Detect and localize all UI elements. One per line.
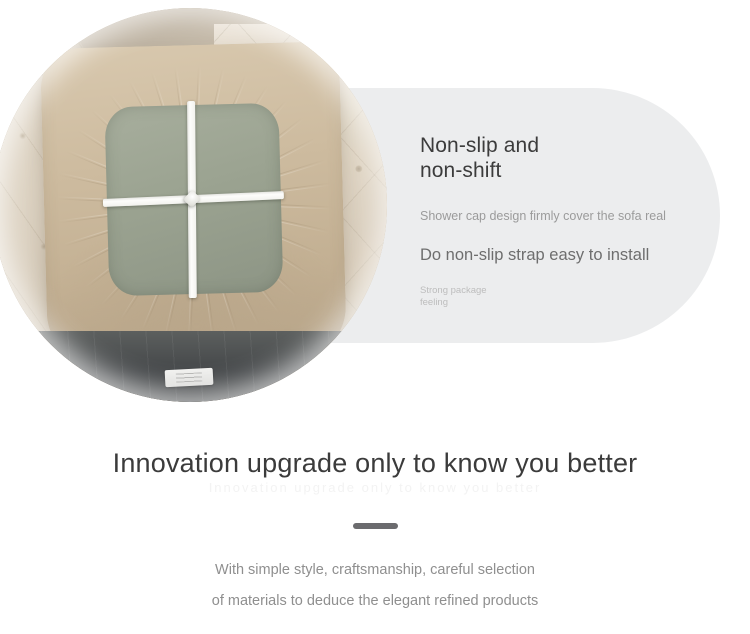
product-label-tag (165, 368, 214, 387)
hero-subtext-faint: Strong package feeling (420, 285, 720, 308)
product-photo-scene (0, 8, 387, 402)
cushion-cover (40, 42, 348, 365)
product-photo (0, 8, 387, 402)
hero-section: Non-slip and non-shift Shower cap design… (0, 0, 750, 430)
section-title: Innovation upgrade only to know you bett… (0, 446, 750, 480)
hero-headline: Non-slip and non-shift (420, 133, 720, 183)
hero-subtext-light: Shower cap design firmly cover the sofa … (420, 208, 720, 224)
tagline-line-2: of materials to deduce the elegant refin… (0, 586, 750, 617)
lower-section: Innovation upgrade only to know you bett… (0, 430, 750, 634)
section-title-ghost: Innovation upgrade only to know you bett… (0, 480, 750, 495)
hero-subtext-strong: Do non-slip strap easy to install (420, 245, 720, 265)
floor-band (0, 331, 387, 402)
section-divider (353, 523, 398, 529)
strap-knot (183, 191, 201, 209)
hero-copy: Non-slip and non-shift Shower cap design… (420, 133, 720, 308)
base-panel (105, 103, 284, 297)
tagline-line-1: With simple style, craftsmanship, carefu… (0, 555, 750, 586)
